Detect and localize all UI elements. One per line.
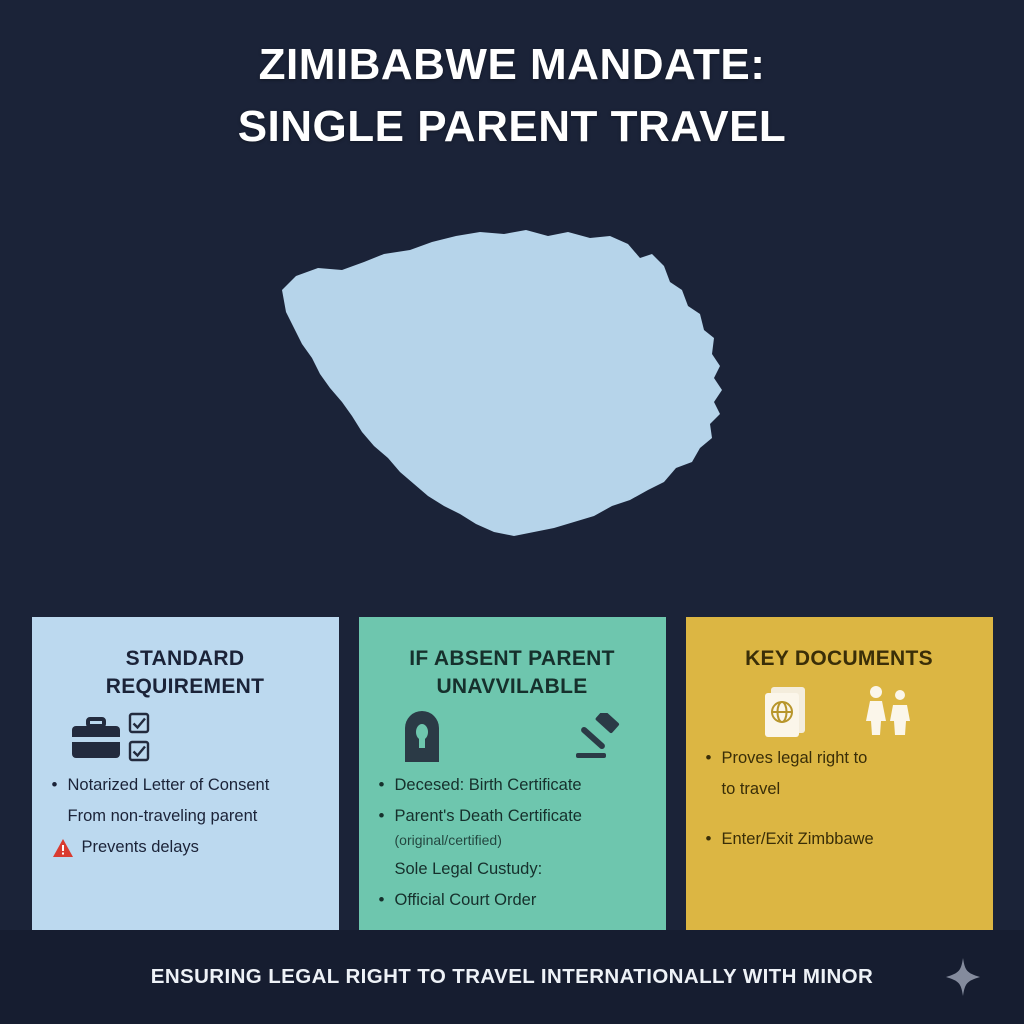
- card2-bullet-2: Parent's Death Certificate: [377, 805, 648, 829]
- card1-bullet-1: Notarized Letter of Consent: [50, 774, 321, 798]
- parent-child-icon: [859, 681, 917, 739]
- card2-subtext: (original/certified): [377, 830, 648, 850]
- warning-icon: [52, 838, 74, 858]
- sparkle-icon: [946, 958, 980, 996]
- card1-title: STANDARD REQUIREMENT: [50, 645, 321, 700]
- card3-bullet-3: Enter/Exit Zimbbawe: [704, 828, 975, 852]
- card3-icons: [704, 679, 975, 741]
- card2-bullet-1: Decesed: Birth Certificate: [377, 774, 648, 798]
- card3-bullet-1: Proves legal right to: [704, 747, 975, 771]
- card3-bullets: Proves legal right to to travel Enter/Ex…: [704, 747, 975, 852]
- card2-title: IF ABSENT PARENT UNAVVILABLE: [377, 645, 648, 700]
- footer-bar: ENSURING LEGAL RIGHT TO TRAVEL INTERNATI…: [0, 930, 1024, 1024]
- infographic-page: ZIMIBABWE MANDATE: SINGLE PARENT TRAVEL …: [0, 0, 1024, 1024]
- card1-bullets: Notarized Letter of Consent From non-tra…: [50, 774, 321, 860]
- gavel-icon: [572, 713, 626, 761]
- footer-text: ENSURING LEGAL RIGHT TO TRAVEL INTERNATI…: [151, 965, 873, 989]
- tombstone-icon: [399, 710, 445, 764]
- map-container: [0, 210, 1024, 580]
- passport-icon: [761, 681, 819, 739]
- checklist-icon: [128, 712, 150, 734]
- briefcase-icon: [70, 711, 126, 763]
- card2-bullets: Decesed: Birth Certificate Parent's Deat…: [377, 774, 648, 912]
- card-absent-parent[interactable]: IF ABSENT PARENT UNAVVILABLE Decesed: Bi…: [359, 617, 666, 930]
- card2-icons: [377, 706, 648, 768]
- card3-bullet-2: to travel: [704, 778, 975, 802]
- cards-row: STANDARD REQUIREMENT: [0, 617, 1024, 930]
- card2-bullet-3: Sole Legal Custudy:: [377, 858, 648, 882]
- zimbabwe-map-icon: [272, 210, 752, 560]
- page-title: ZIMIBABWE MANDATE: SINGLE PARENT TRAVEL: [0, 34, 1024, 159]
- checklist-icon: [128, 740, 150, 762]
- card-standard-requirement[interactable]: STANDARD REQUIREMENT: [32, 617, 339, 930]
- card2-bullet-4: Official Court Order: [377, 889, 648, 913]
- title-line-2: SINGLE PARENT TRAVEL: [0, 96, 1024, 158]
- title-line-1: ZIMIBABWE MANDATE:: [0, 34, 1024, 96]
- card1-bullet-2: From non-traveling parent: [50, 805, 321, 829]
- card-key-documents[interactable]: KEY DOCUMENTS Proves legal right to: [686, 617, 993, 930]
- card3-title: KEY DOCUMENTS: [704, 645, 975, 673]
- card1-warning-text: Prevents delays: [82, 836, 199, 860]
- card1-warning-row: Prevents delays: [50, 836, 321, 860]
- card1-icons: [50, 706, 321, 768]
